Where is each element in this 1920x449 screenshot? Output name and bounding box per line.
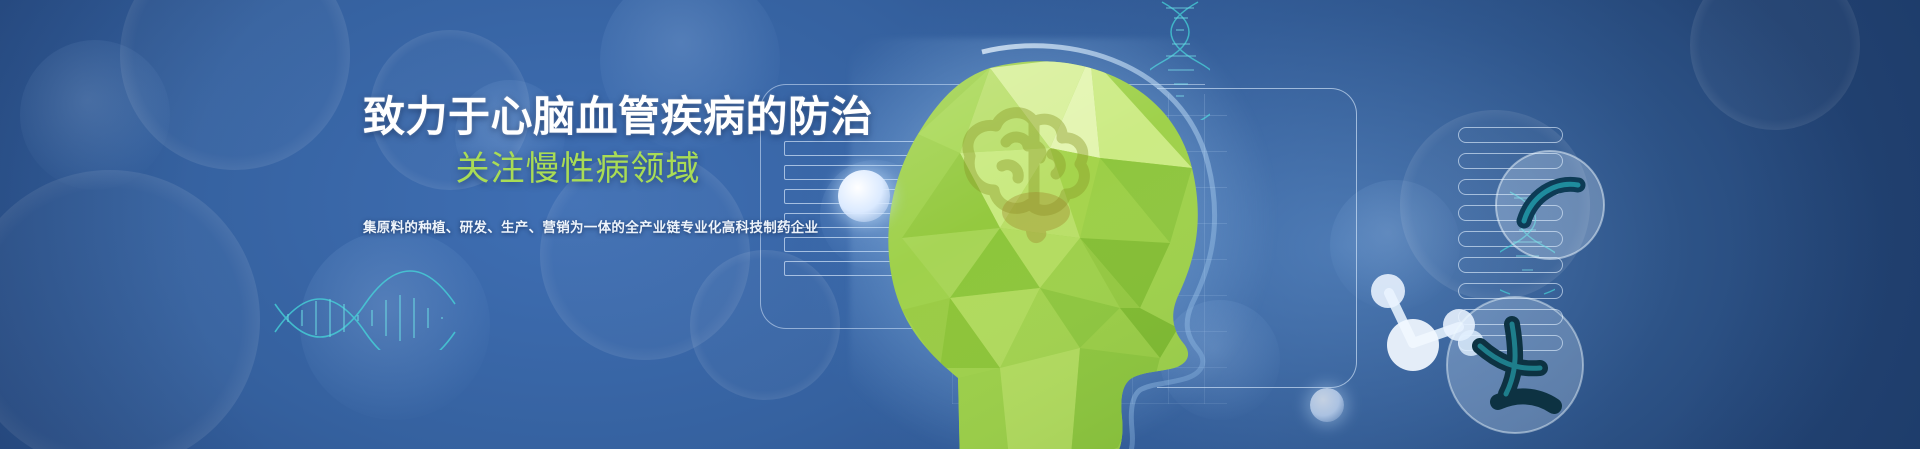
head-polygon-fill <box>840 38 1310 449</box>
hero-copy: 致力于心脑血管疾病的防治 关注慢性病领域 集原料的种植、研发、生产、营销为一体的… <box>363 96 793 236</box>
headline-suffix: 的防治 <box>746 93 874 140</box>
bacteria-icon <box>1440 290 1590 440</box>
hero-banner: 致力于心脑血管疾病的防治 关注慢性病领域 集原料的种植、研发、生产、营销为一体的… <box>0 0 1920 449</box>
glow-dot <box>838 170 890 222</box>
headline-prefix: 致力于 <box>363 93 491 140</box>
head-silhouette-icon <box>840 38 1310 449</box>
page-caption: 集原料的种植、研发、生产、营销为一体的全产业链专业化高科技制药企业 <box>363 216 793 236</box>
dna-helix-icon <box>270 270 460 350</box>
polygonal-head-figure <box>840 38 1310 449</box>
page-subtitle: 关注慢性病领域 <box>363 152 793 186</box>
page-title: 致力于心脑血管疾病的防治 <box>363 96 793 138</box>
bacteria-icon <box>1490 145 1610 265</box>
headline-accent: 心脑血管疾病 <box>491 93 746 140</box>
glow-dot <box>1310 388 1344 422</box>
